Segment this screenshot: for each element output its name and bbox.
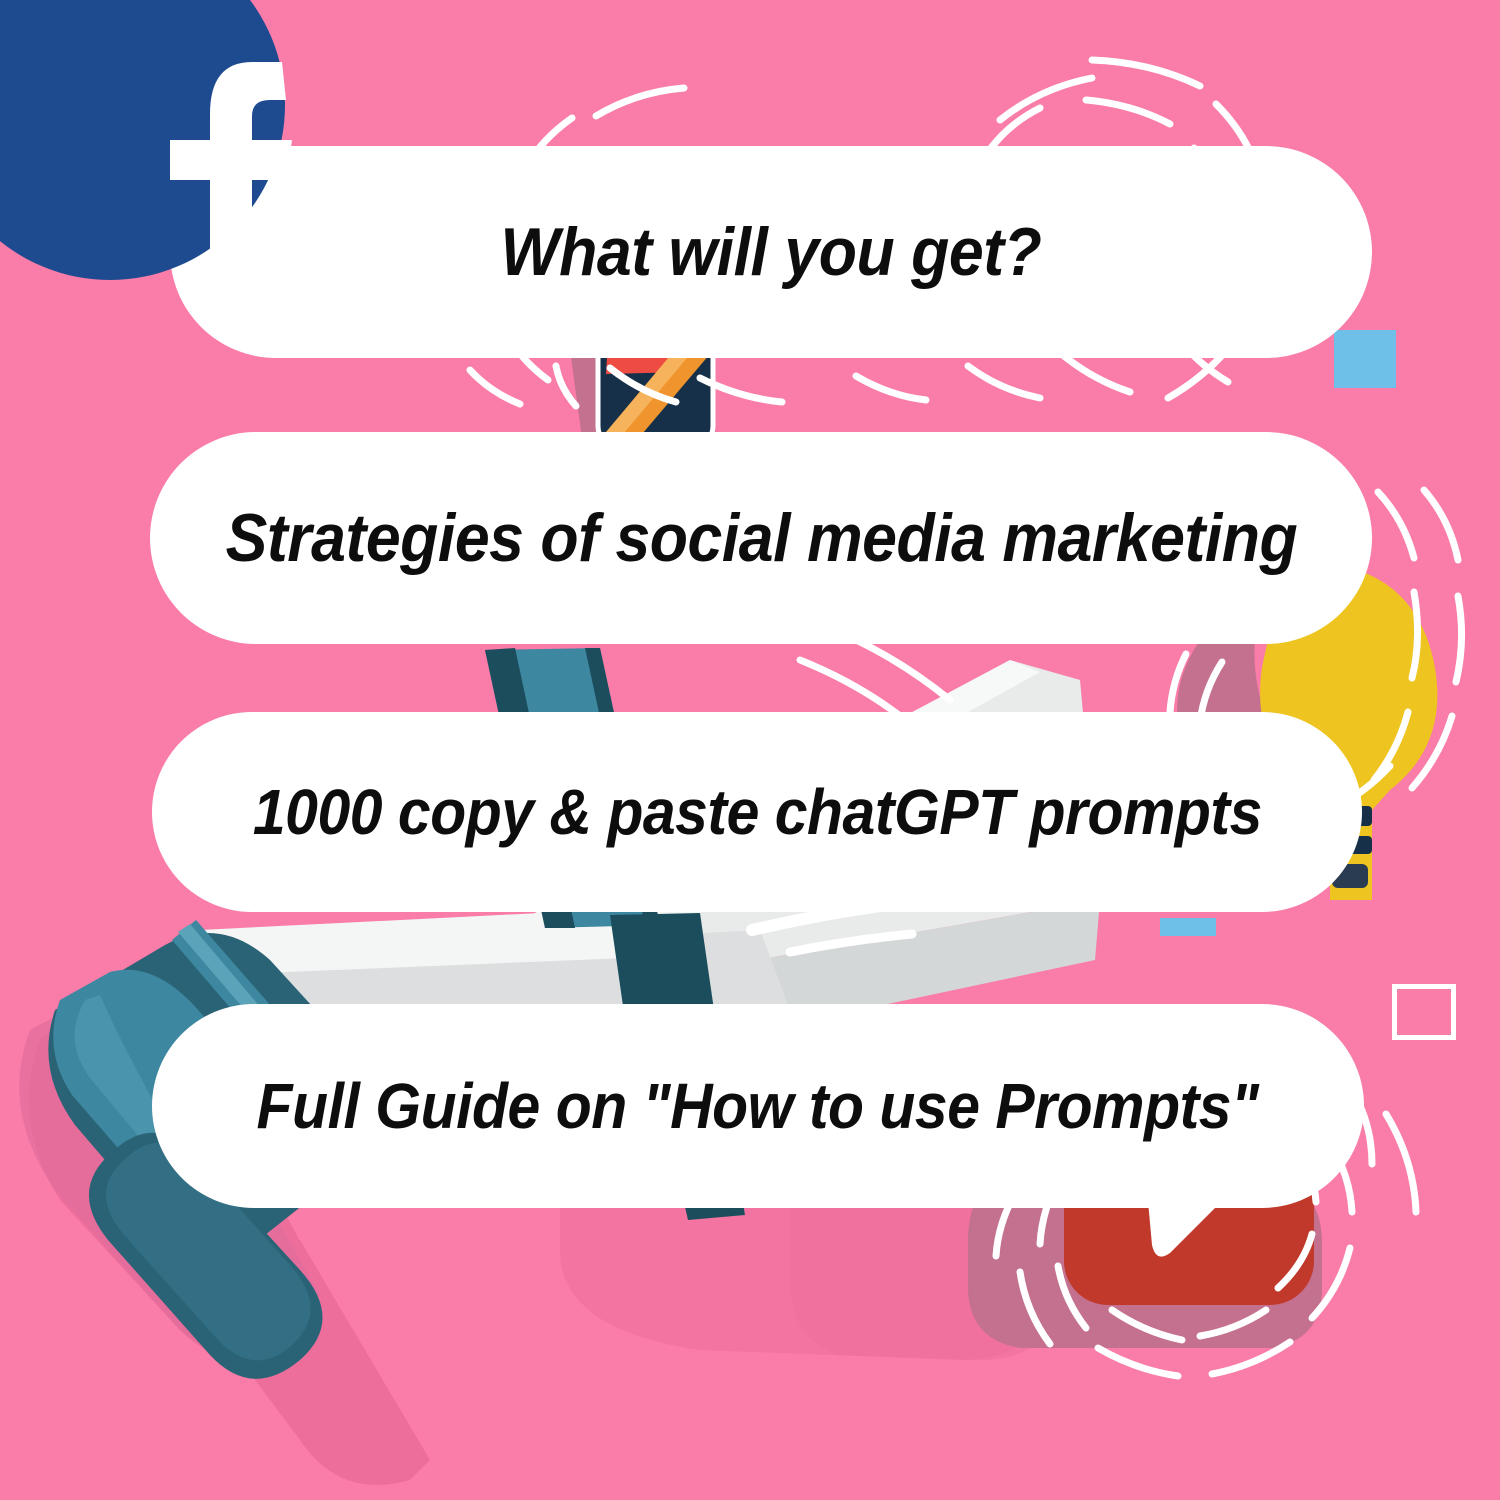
headline-banner-text: What will you get? xyxy=(501,213,1042,291)
blue-square-lower-icon xyxy=(1160,918,1216,936)
benefit-banner-1-text: Strategies of social media marketing xyxy=(225,499,1297,577)
benefit-banner-2[interactable]: 1000 copy & paste chatGPT prompts xyxy=(152,712,1362,912)
speech-bubble-tail xyxy=(1148,1195,1218,1257)
facebook-icon xyxy=(160,58,300,278)
benefit-banner-3-text: Full Guide on "How to use Prompts" xyxy=(257,1069,1259,1143)
benefit-banner-1[interactable]: Strategies of social media marketing xyxy=(150,432,1372,644)
blue-square-upper-icon xyxy=(1334,330,1396,388)
headline-banner[interactable]: What will you get? xyxy=(170,146,1372,358)
promo-card-canvas: What will you get? Strategies of social … xyxy=(0,0,1500,1500)
benefit-banner-3[interactable]: Full Guide on "How to use Prompts" xyxy=(152,1004,1364,1208)
white-outline-square-icon xyxy=(1392,984,1456,1040)
benefit-banner-2-text: 1000 copy & paste chatGPT prompts xyxy=(253,775,1262,849)
